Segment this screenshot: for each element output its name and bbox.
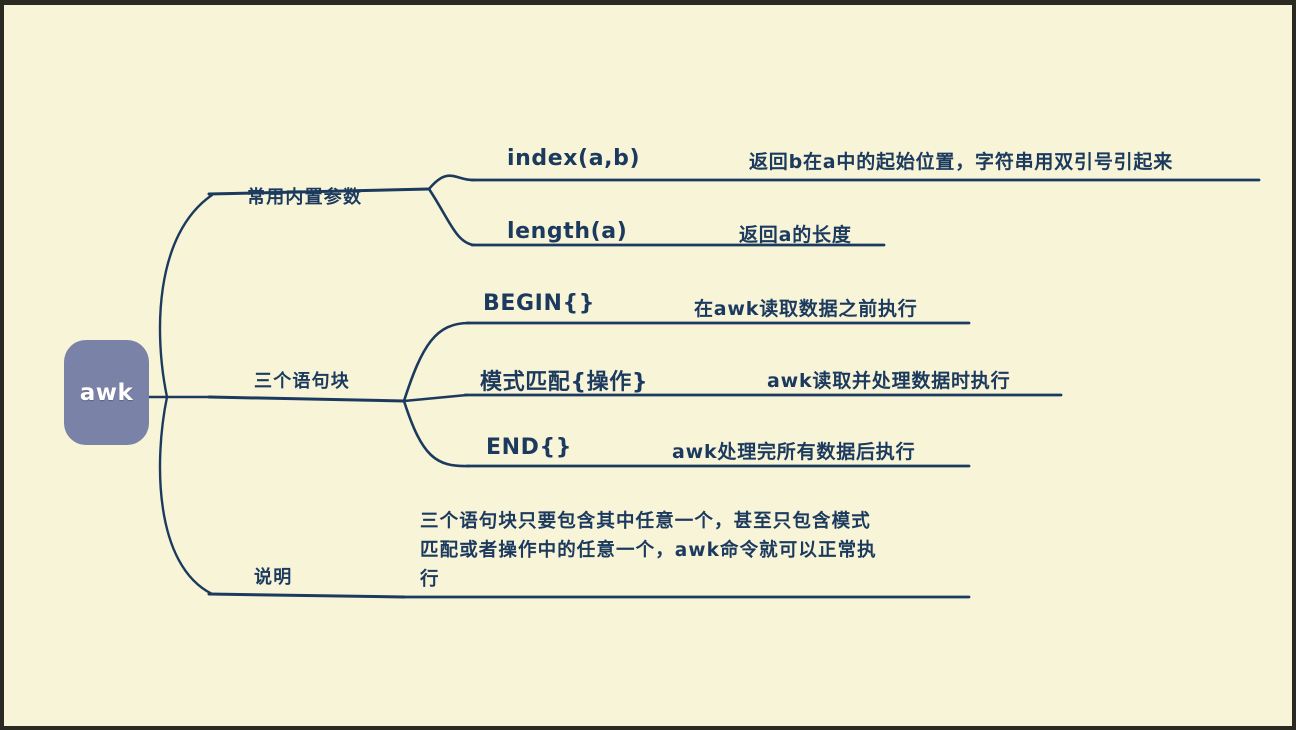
edge-b1-child1-curve [429, 176, 474, 189]
root-node-label: awk [80, 380, 134, 406]
node-label-index[interactable]: index(a,b) [507, 146, 640, 171]
node-label-begin[interactable]: BEGIN{} [483, 291, 595, 316]
edge-b2-child1-curve [404, 323, 469, 401]
edge-b1-child2-curve [429, 189, 474, 245]
branch-label-builtin-params[interactable]: 常用内置参数 [247, 183, 362, 209]
node-desc-begin[interactable]: 在awk读取数据之前执行 [694, 294, 918, 321]
branch-label-three-blocks[interactable]: 三个语句块 [254, 367, 350, 393]
root-node[interactable]: awk [64, 340, 149, 445]
node-desc-notes[interactable]: 三个语句块只要包含其中任意一个，甚至只包含模式 匹配或者操作中的任意一个，awk… [420, 507, 980, 594]
edge-fork-bottom [160, 397, 212, 594]
edge-fork-top [160, 195, 212, 397]
mindmap-canvas[interactable]: awk 常用内置参数 三个语句块 说明 index(a,b) 返回b在a中的起始… [4, 5, 1292, 726]
edge-branch2-run [209, 397, 404, 401]
node-label-end[interactable]: END{} [486, 435, 572, 460]
edge-branch3-run [209, 594, 404, 597]
node-label-pattern-action[interactable]: 模式匹配{操作} [480, 364, 648, 396]
node-label-length[interactable]: length(a) [507, 219, 627, 244]
node-desc-index[interactable]: 返回b在a中的起始位置，字符串用双引号引起来 [749, 147, 1173, 174]
edge-b2-child3-curve [404, 401, 469, 466]
edge-b2-child2-curve [404, 395, 467, 401]
screenshot-frame: awk 常用内置参数 三个语句块 说明 index(a,b) 返回b在a中的起始… [0, 0, 1296, 730]
node-desc-length[interactable]: 返回a的长度 [739, 220, 852, 247]
node-desc-end[interactable]: awk处理完所有数据后执行 [672, 437, 915, 464]
branch-label-notes[interactable]: 说明 [254, 563, 292, 589]
node-desc-pattern-action[interactable]: awk读取并处理数据时执行 [767, 366, 1010, 393]
